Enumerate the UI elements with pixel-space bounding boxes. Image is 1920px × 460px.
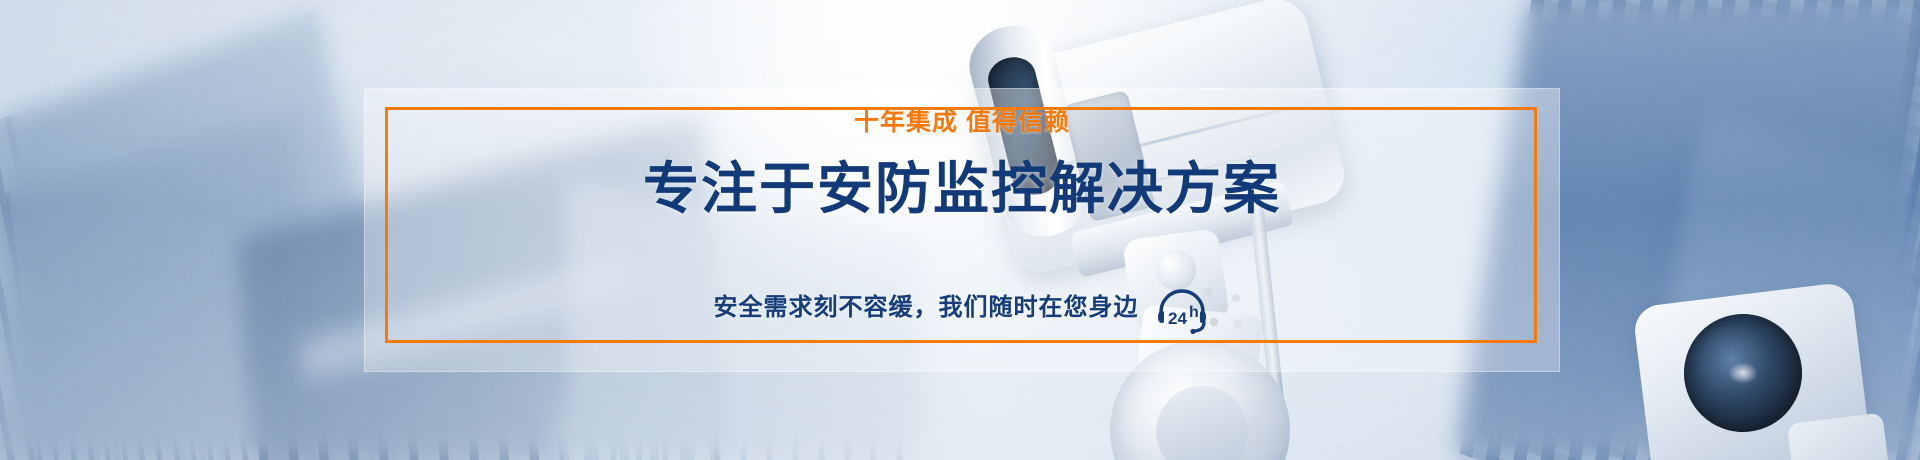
banner-content: 十年集成 值得信赖 专注于安防监控解决方案 安全需求刻不容缓，我们随时在您身边 … [364,88,1560,372]
24h-service-badge: 24 h [1153,282,1211,334]
banner-headline: 专注于安防监控解决方案 [643,159,1281,218]
hero-banner: 十年集成 值得信赖 专注于安防监控解决方案 安全需求刻不容缓，我们随时在您身边 … [0,0,1920,460]
cctv-dome-camera [1598,258,1898,460]
banner-subtitle: 安全需求刻不容缓，我们随时在您身边 [714,296,1139,320]
badge-number: 24 [1168,309,1187,328]
banner-subtitle-row: 安全需求刻不容缓，我们随时在您身边 24 h [714,282,1211,334]
dome-camera-glint [1728,362,1758,384]
headset-24h-icon: 24 h [1153,282,1211,334]
banner-eyebrow: 十年集成 值得信赖 [854,110,1070,135]
badge-unit: h [1189,304,1199,321]
